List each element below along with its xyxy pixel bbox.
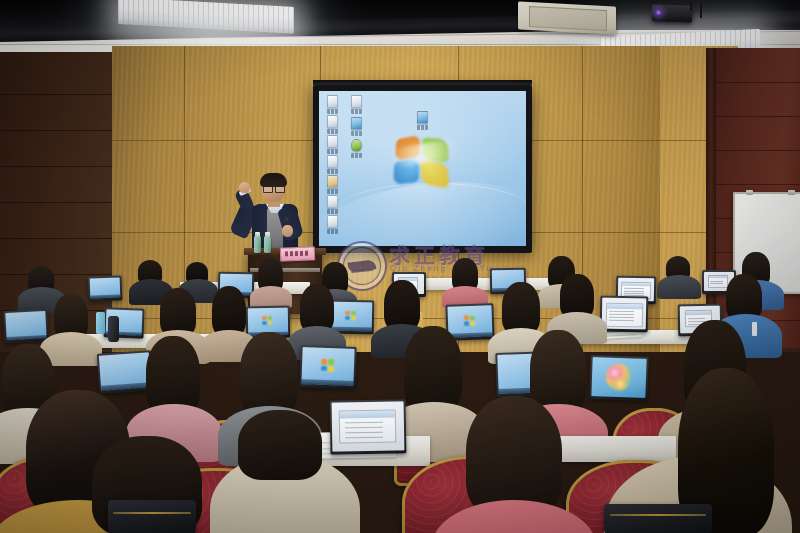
projector-mount (690, 1, 692, 11)
windows-logo-icon (345, 311, 356, 321)
projector-lens-icon (655, 9, 662, 15)
laptop-bag (108, 500, 196, 533)
desktop-icon[interactable] (327, 215, 338, 234)
projector-mount (700, 2, 702, 18)
water-bottle (108, 316, 119, 342)
classroom-photo: 求正教育 Qiu Zheng Jiao Yu 综合运营整体解决方案服务商 (0, 0, 800, 533)
desktop-icon[interactable] (417, 111, 428, 130)
laptop-screen-windows-desktop[interactable] (88, 275, 123, 301)
windows-logo-icon (321, 359, 335, 372)
lanyard-badge (752, 322, 757, 336)
desktop-icon[interactable] (327, 175, 338, 194)
laptop-screen-windows-desktop[interactable] (97, 350, 154, 394)
ceiling-projector (652, 4, 692, 22)
laptop-screen-document[interactable] (330, 399, 407, 454)
water-bottle (96, 312, 105, 334)
classroom-desk (556, 436, 676, 462)
water-bottle (254, 236, 261, 253)
ceiling-ac-vent (518, 1, 616, 34)
laptop-screen-floral[interactable] (589, 355, 649, 401)
presenter-raised-hand (239, 182, 250, 193)
windows-logo-icon (464, 315, 476, 326)
seated-audience (0, 260, 800, 533)
desktop-icon[interactable] (351, 117, 362, 136)
desktop-icon[interactable] (327, 95, 338, 114)
ac-vent-grille (529, 6, 607, 31)
desktop-icon[interactable] (327, 135, 338, 154)
whiteboard-clip (746, 190, 753, 195)
windows-logo-icon (393, 135, 453, 188)
wallpaper-swoosh (336, 183, 526, 240)
desktop-icon[interactable] (327, 155, 338, 174)
projection-screen[interactable] (319, 91, 526, 246)
presenter-speaker (234, 173, 318, 255)
whiteboard-clip (788, 190, 795, 195)
projection-screen-frame (313, 85, 532, 253)
desktop-icon[interactable] (327, 195, 338, 214)
laptop-screen-windows-desktop[interactable] (299, 345, 356, 389)
desktop-icon[interactable] (327, 115, 338, 134)
laptop-screen-windows-desktop[interactable] (3, 309, 49, 343)
windows-logo-icon (262, 316, 273, 325)
presenter-hair (260, 173, 287, 187)
presenter-glasses-icon (263, 186, 284, 191)
water-bottle (264, 236, 271, 253)
presenter-hand (282, 225, 293, 237)
laptop-bag (604, 504, 712, 533)
desktop-icon[interactable] (351, 95, 362, 114)
desktop-icon[interactable] (351, 139, 362, 158)
